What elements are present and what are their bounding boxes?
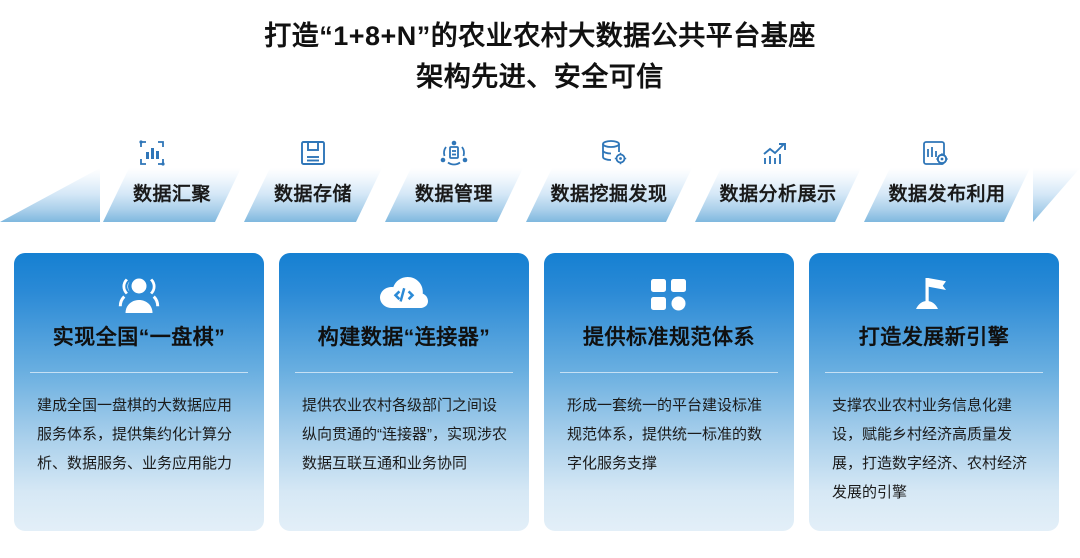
database-gear-icon — [594, 138, 634, 170]
grid-blocks-icon — [544, 275, 794, 317]
feature-card-list: 实现全国“一盘棋” 建成全国一盘棋的大数据应用服务体系，提供集约化计算分析、数据… — [0, 253, 1080, 531]
document-gear-icon — [915, 138, 955, 170]
feature-card-2-title: 构建数据“连接器” — [279, 321, 529, 351]
flag-icon — [809, 275, 1059, 317]
feature-card-1[interactable]: 实现全国“一盘棋” 建成全国一盘棋的大数据应用服务体系，提供集约化计算分析、数据… — [14, 253, 264, 531]
feature-card-2[interactable]: 构建数据“连接器” 提供农业农村各级部门之间设纵向贯通的“连接器”，实现涉农数据… — [279, 253, 529, 531]
feature-card-4-title: 打造发展新引擎 — [809, 321, 1059, 351]
band-label-3: 数据管理 — [385, 168, 523, 222]
feature-card-3-body: 形成一套统一的平台建设标准规范体系，提供统一标准的数字化服务支撑 — [567, 391, 774, 478]
band-label-5: 数据分析展示 — [695, 168, 861, 222]
band-label-6: 数据发布利用 — [864, 168, 1030, 222]
feature-card-3-divider — [560, 372, 778, 373]
floppy-disk-icon — [293, 138, 333, 170]
feature-card-3-title: 提供标准规范体系 — [544, 321, 794, 351]
feature-card-4-divider — [825, 372, 1043, 373]
feature-card-2-body: 提供农业农村各级部门之间设纵向贯通的“连接器”，实现涉农数据互联互通和业务协同 — [302, 391, 509, 478]
bar-chart-frame-icon — [132, 138, 172, 170]
data-management-node-icon — [434, 138, 474, 170]
band-trailing-triangle — [1033, 168, 1080, 222]
cloud-code-icon — [279, 275, 529, 317]
page-title-line-2: 架构先进、安全可信 — [0, 57, 1080, 98]
band-label-1: 数据汇聚 — [103, 168, 241, 222]
feature-card-3[interactable]: 提供标准规范体系 形成一套统一的平台建设标准规范体系，提供统一标准的数字化服务支… — [544, 253, 794, 531]
band-label-4: 数据挖掘发现 — [526, 168, 692, 222]
page-title-line-1: 打造“1+8+N”的农业农村大数据公共平台基座 — [0, 16, 1080, 57]
band-leading-triangle — [0, 168, 100, 222]
people-group-icon — [14, 275, 264, 317]
feature-card-1-title: 实现全国“一盘棋” — [14, 321, 264, 351]
feature-card-4-body: 支撑农业农村业务信息化建设，赋能乡村经济高质量发展，打造数字经济、农村经济发展的… — [832, 391, 1039, 507]
feature-card-1-body: 建成全国一盘棋的大数据应用服务体系，提供集约化计算分析、数据服务、业务应用能力 — [37, 391, 244, 478]
process-step-band: 数据汇聚 数据存储 数据管理 数据挖掘发现 数据分析展示 数据发布利用 — [0, 168, 1080, 222]
feature-card-2-divider — [295, 372, 513, 373]
band-label-2: 数据存储 — [244, 168, 382, 222]
page-title: 打造“1+8+N”的农业农村大数据公共平台基座 架构先进、安全可信 — [0, 16, 1080, 98]
feature-card-4[interactable]: 打造发展新引擎 支撑农业农村业务信息化建设，赋能乡村经济高质量发展，打造数字经济… — [809, 253, 1059, 531]
feature-card-1-divider — [30, 372, 248, 373]
trending-chart-icon — [755, 138, 795, 170]
